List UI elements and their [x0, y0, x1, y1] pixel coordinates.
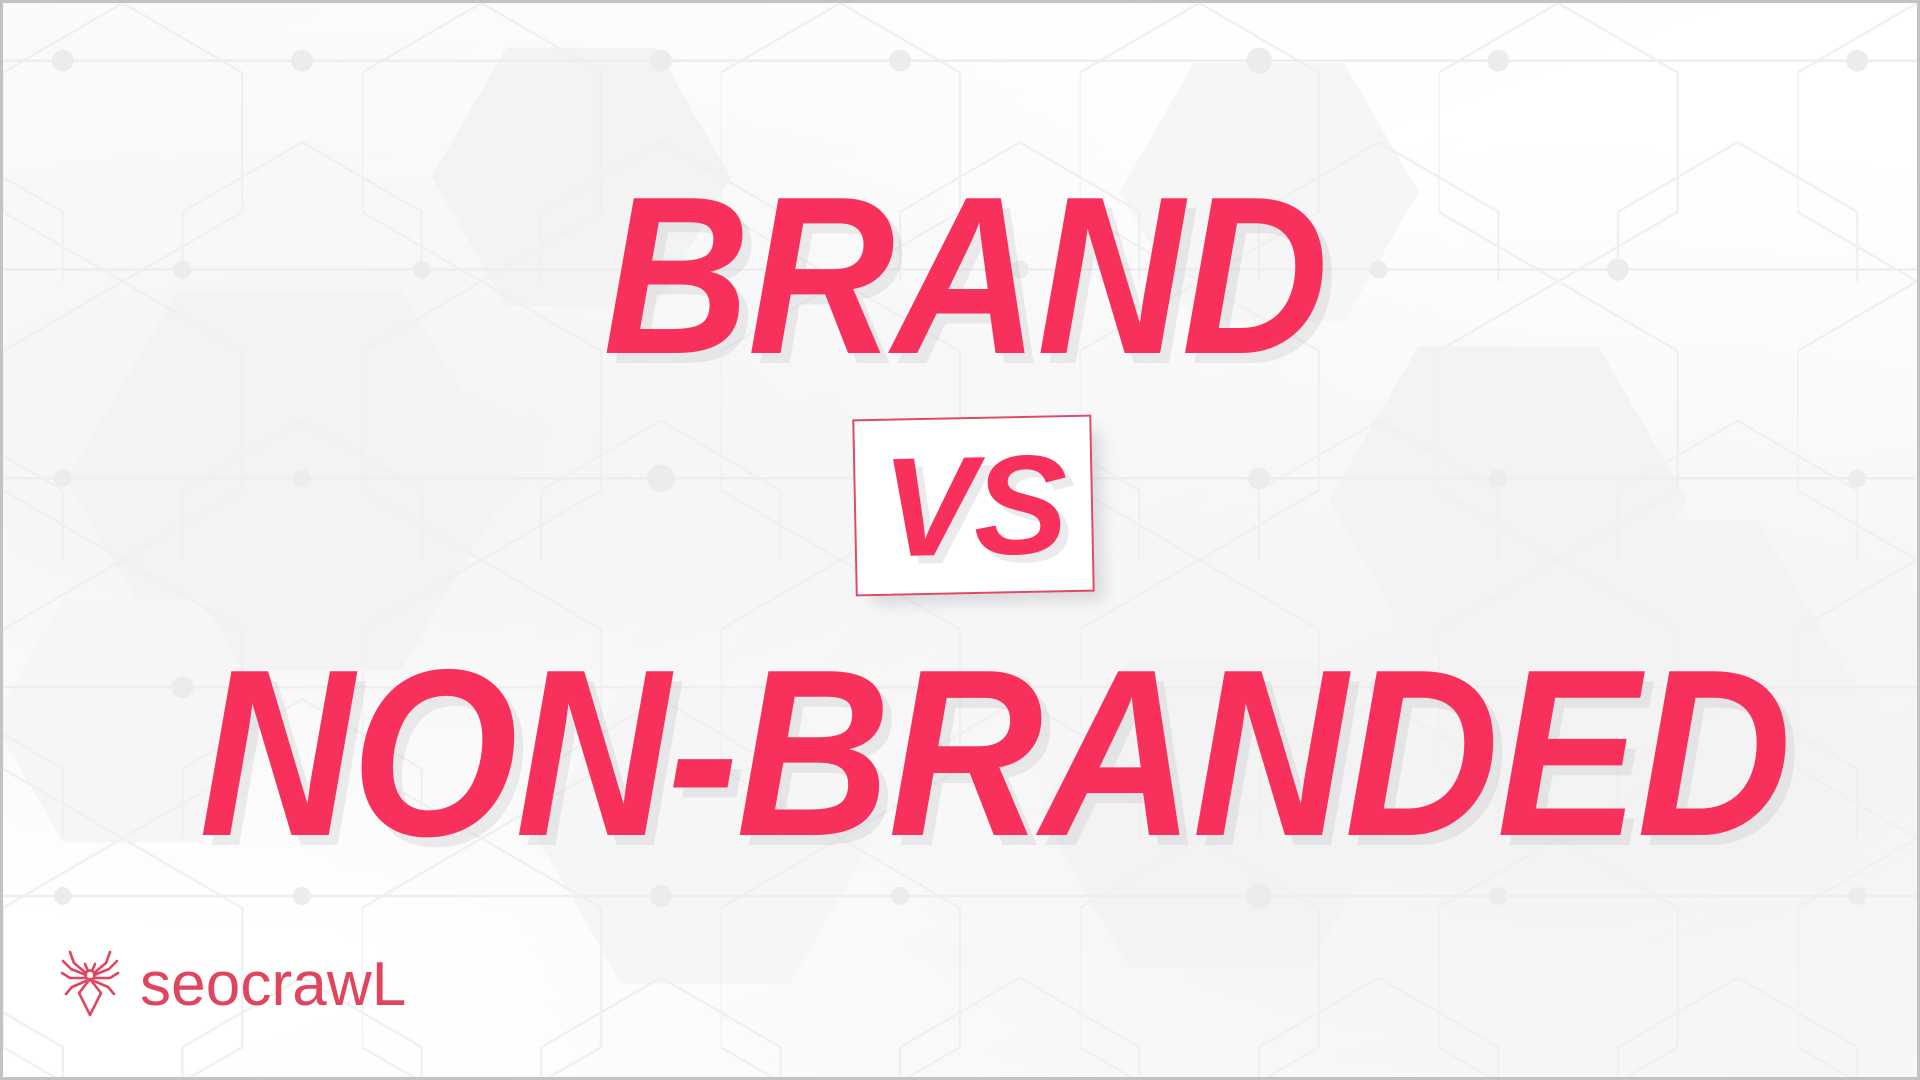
versus-label: VS	[855, 433, 1093, 579]
brand-logo: seocrawL	[58, 945, 406, 1021]
spider-icon	[58, 945, 122, 1021]
poster-canvas: BRAND VS NON-BRANDED seocrawL	[0, 0, 1920, 1080]
logo-wordmark: seocrawL	[140, 954, 406, 1016]
versus-card: VS	[852, 415, 1095, 597]
headline-line-2: NON-BRANDED	[199, 635, 1789, 873]
headline-line-1: BRAND	[603, 163, 1326, 388]
